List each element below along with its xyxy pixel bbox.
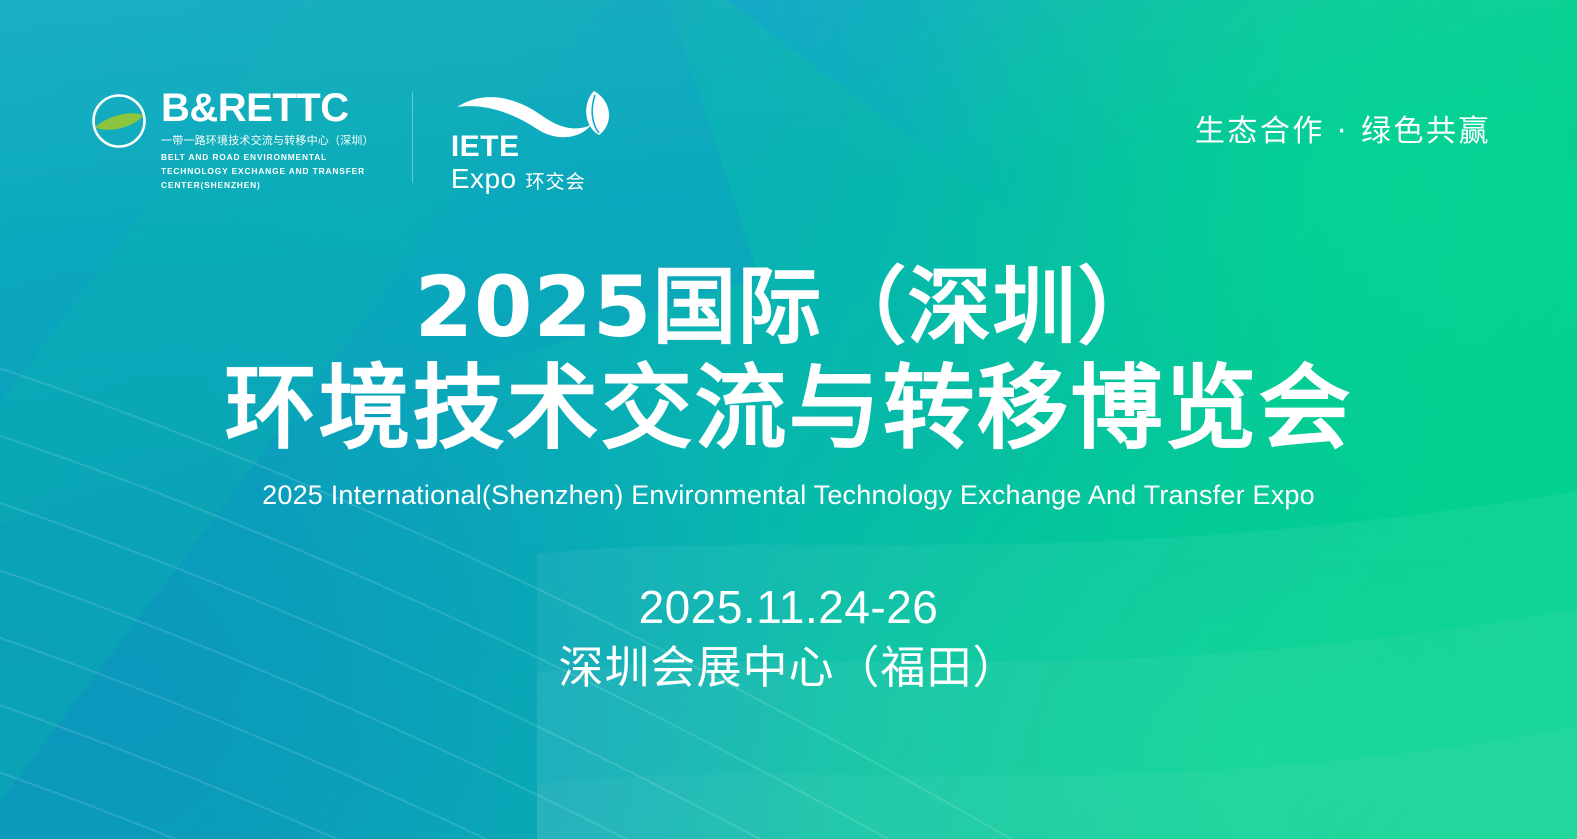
page-title-line-2: 环境技术交流与转移博览会 [0,357,1577,460]
event-banner: B&RETTC 一带一路环境技术交流与转移中心（深圳） BELT AND ROA… [0,0,1577,839]
iete-subtitle-row: Expo 环交会 [451,165,586,193]
brettc-english-line-1: BELT AND ROAD ENVIRONMENTAL [161,151,374,163]
globe-with-band-icon [88,90,150,152]
iete-acronym: IETE [451,132,520,162]
event-date: 2025.11.24-26 [0,579,1577,637]
banner-main-content: 2025国际（深圳） 环境技术交流与转移博览会 2025 Internation… [0,262,1577,697]
iete-expo-word: Expo [451,165,517,193]
brettc-wordmark: B&RETTC [161,88,374,128]
iete-expo-logo: IETE Expo 环交会 [451,86,619,193]
logo-divider [412,92,413,183]
brettc-chinese-name: 一带一路环境技术交流与转移中心（深圳） [161,133,374,149]
logo-group: B&RETTC 一带一路环境技术交流与转移中心（深圳） BELT AND ROA… [88,88,619,193]
page-subtitle-english: 2025 International(Shenzhen) Environment… [0,480,1577,511]
event-venue: 深圳会展中心（福田） [0,640,1577,696]
brettc-english-line-2: TECHNOLOGY EXCHANGE AND TRANSFER [161,165,374,177]
brettc-text-block: B&RETTC 一带一路环境技术交流与转移中心（深圳） BELT AND ROA… [161,88,374,192]
banner-slogan: 生态合作 · 绿色共赢 [1195,106,1491,150]
page-title-line-1: 2025国际（深圳） [0,262,1577,353]
event-details: 2025.11.24-26 深圳会展中心（福田） [0,579,1577,697]
brettc-logo: B&RETTC 一带一路环境技术交流与转移中心（深圳） BELT AND ROA… [88,88,374,192]
banner-header: B&RETTC 一带一路环境技术交流与转移中心（深圳） BELT AND ROA… [88,88,1491,193]
iete-chinese-short: 环交会 [526,173,586,192]
brettc-english-line-3: CENTER(SHENZHEN) [161,179,374,191]
